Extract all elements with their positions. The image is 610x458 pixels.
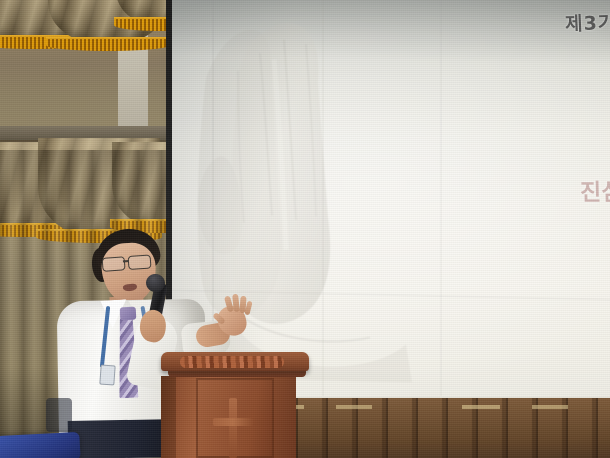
blue-object xyxy=(0,432,81,458)
eyeglasses xyxy=(101,254,158,270)
speaker xyxy=(0,0,610,458)
necktie-knot xyxy=(120,307,137,321)
name-badge xyxy=(99,365,115,386)
face xyxy=(100,241,158,305)
cross-emblem-bar xyxy=(213,418,253,426)
photograph: 제3기 중보기도 세미나 진심으로 환영합니다 전주금암교회 중보기도단 xyxy=(0,0,610,458)
dark-object xyxy=(46,398,72,432)
cross-emblem xyxy=(229,398,237,458)
pulpit-carving xyxy=(180,356,284,368)
